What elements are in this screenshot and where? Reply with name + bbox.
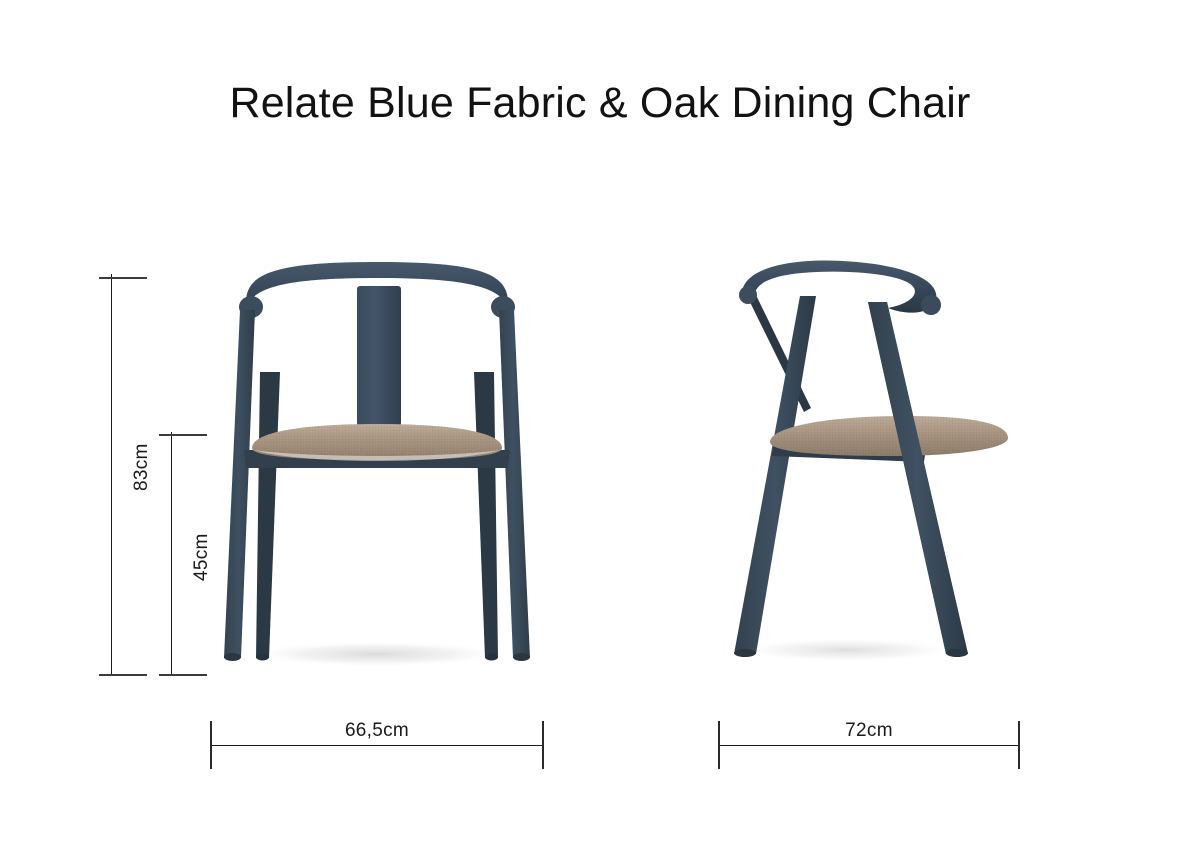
dimension-tick-overall-height-bottom bbox=[99, 674, 147, 676]
front-view-chair bbox=[222, 262, 532, 682]
dimension-label-side-depth: 72cm bbox=[718, 720, 1020, 742]
dimension-tick-overall-height-top bbox=[99, 277, 147, 279]
dimension-label-overall-height: 83cm bbox=[131, 443, 153, 491]
dimension-line-side-depth bbox=[718, 745, 1020, 746]
front-view-chair-illustration bbox=[222, 262, 532, 682]
dimension-label-front-width: 66,5cm bbox=[210, 720, 544, 742]
dimension-tick-seat-height-top bbox=[159, 434, 207, 436]
side-view-chair bbox=[712, 258, 1022, 683]
dimension-line-overall-height bbox=[111, 274, 112, 676]
dimension-line-seat-height bbox=[171, 432, 172, 676]
dimension-label-seat-height: 45cm bbox=[191, 533, 213, 581]
dimension-line-front-width bbox=[210, 745, 544, 746]
side-view-chair-illustration bbox=[712, 258, 1022, 683]
dimension-tick-seat-height-bottom bbox=[159, 674, 207, 676]
dimension-diagram-canvas: Relate Blue Fabric & Oak Dining Chair bbox=[0, 0, 1200, 855]
page-title: Relate Blue Fabric & Oak Dining Chair bbox=[0, 79, 1200, 128]
